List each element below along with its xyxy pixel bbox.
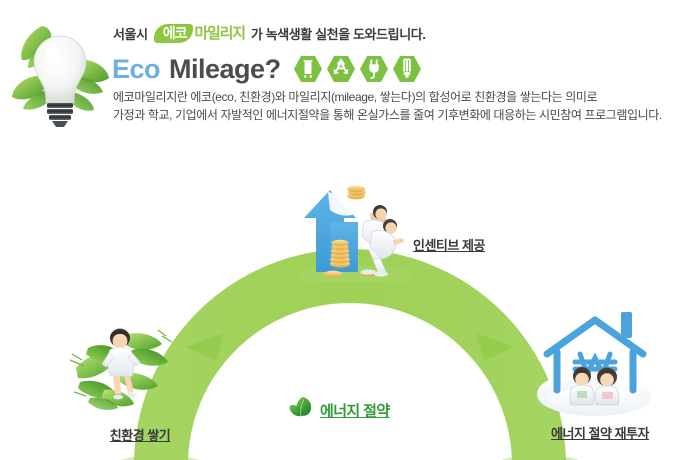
node-incentive[interactable] — [296, 180, 416, 280]
headline-eco: Eco — [112, 54, 160, 85]
leaf-icon — [288, 395, 316, 426]
chimney — [621, 312, 632, 338]
node-reinvest[interactable] — [525, 308, 665, 418]
description-block: 에코마일리지란 에코(eco, 친환경)와 마일리지(mileage, 쌓는다)… — [113, 88, 693, 124]
description-line-1: 에코마일리지란 에코(eco, 친환경)와 마일리지(mileage, 쌓는다)… — [113, 88, 693, 106]
lightbulb-with-leaves-icon — [6, 18, 114, 130]
node-eco-stack[interactable] — [62, 320, 182, 420]
feature-icon-row — [293, 55, 422, 83]
coin-stack-top — [347, 186, 366, 200]
tagline-suffix: 가 녹색생활 실천을 도와드립니다. — [251, 24, 426, 43]
label-reinvest[interactable]: 에너지 절약 재투자 — [530, 423, 670, 442]
page-title: Eco Mileage? — [112, 52, 422, 86]
label-incentive[interactable]: 인센티브 제공 — [413, 235, 485, 254]
description-line-2: 가정과 학교, 기업에서 자발적인 에너지절약을 통해 온실가스를 줄여 기후변… — [113, 106, 693, 124]
tagline-prefix: 서울시 — [113, 24, 148, 43]
power-plug-icon — [359, 55, 389, 83]
headline-mileage: Mileage? — [169, 54, 281, 85]
recycle-icon — [326, 55, 356, 83]
cycle-diagram: 인센티브 제공 — [0, 140, 699, 460]
logo-badge-eco: 에코 — [154, 24, 194, 43]
header-section: 서울시 에코 마일리지 가 녹색생활 실천을 도와드립니다. Eco Milea… — [0, 0, 699, 140]
center-label-text: 에너지 절약 — [320, 400, 390, 421]
trash-bin-icon — [293, 55, 323, 83]
logo-word-mileage: 마일리지 — [194, 26, 244, 41]
label-eco-stack[interactable]: 친환경 쌓기 — [85, 425, 195, 444]
center-label-group[interactable]: 에너지 절약 — [288, 395, 390, 426]
eco-mileage-logo: 에코 마일리지 — [154, 21, 245, 45]
fluorescent-lamp-icon — [392, 55, 422, 83]
coin-stack-middle — [330, 240, 350, 268]
tagline: 서울시 에코 마일리지 가 녹색생활 실천을 도와드립니다. — [113, 20, 426, 46]
page-root: 서울시 에코 마일리지 가 녹색생활 실천을 도와드립니다. Eco Milea… — [0, 0, 699, 460]
